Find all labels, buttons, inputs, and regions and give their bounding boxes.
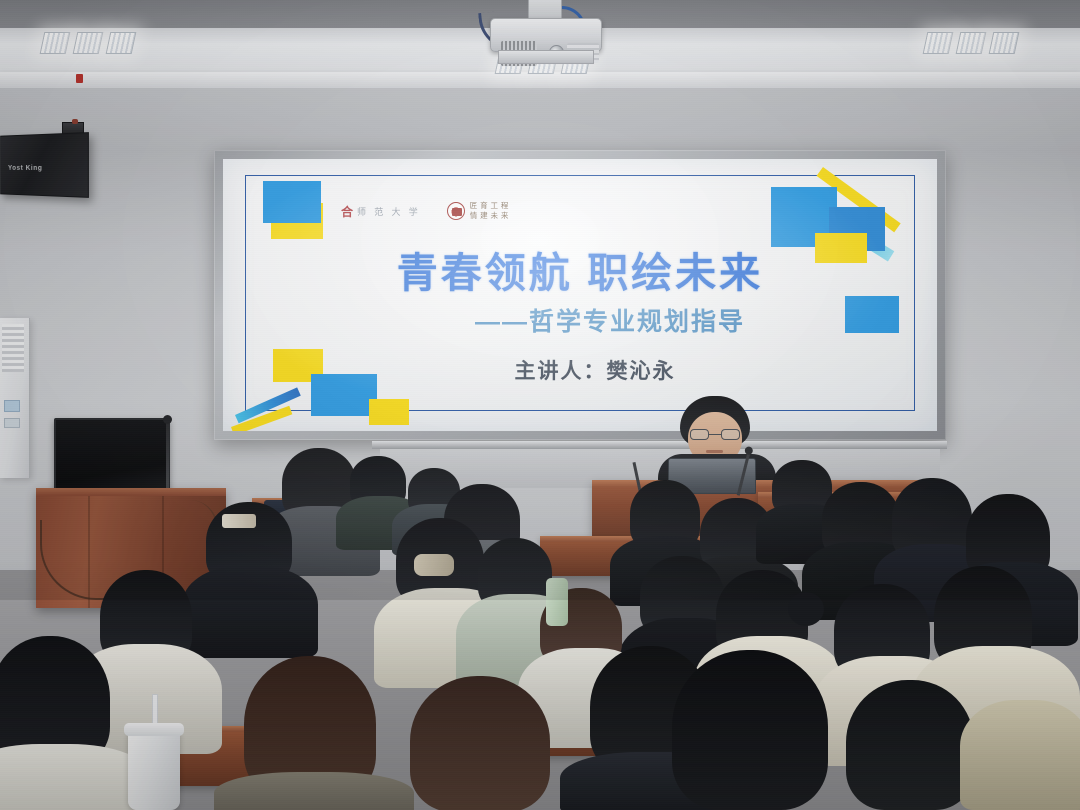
light-panel-icon [73, 32, 104, 54]
light-panel-icon [923, 32, 954, 54]
ceiling-projector [486, 0, 606, 60]
ceiling-light-group-right [925, 32, 1017, 58]
light-panel-icon [956, 32, 987, 54]
program-logo-line2: 情 建 未 来 [470, 211, 509, 220]
slide-subtitle: ——哲学专业规划指导 [223, 302, 937, 338]
slide-speaker: 主讲人：樊沁永 [223, 355, 937, 385]
speaker-brand-label: Yost King [8, 165, 43, 172]
university-logo-text: 师 范 大 学 [357, 205, 421, 218]
projection-screen-bezel: 合 师 范 大 学 匠 育 工 程 情 建 未 来 青春领航 职绘未来 ——哲学… [214, 150, 946, 440]
deco-blue-square-topleft [263, 181, 321, 223]
slide-logos: 合 师 范 大 学 匠 育 工 程 情 建 未 来 [341, 201, 509, 221]
aircon-display [4, 400, 20, 412]
presenter-mouth [706, 450, 723, 453]
podium-microphone [166, 422, 169, 488]
bracket-screw [72, 119, 78, 124]
presenter-badge [76, 74, 83, 83]
projector-body [490, 18, 602, 52]
aircon-panel [4, 418, 20, 428]
seal-icon [447, 202, 465, 220]
lecture-hall-photo: Yost King [0, 0, 1080, 810]
aircon-grille [2, 324, 24, 372]
projection-screen: 合 师 范 大 学 匠 育 工 程 情 建 未 来 青春领航 职绘未来 ——哲学… [223, 159, 937, 431]
university-logo-mark: 合 [341, 203, 353, 220]
wall-upper [0, 88, 1080, 158]
podium-monitor [54, 418, 170, 492]
wall-speaker: Yost King [0, 132, 89, 198]
projector-base-plate [498, 50, 594, 64]
drink-cup [128, 730, 180, 810]
program-logo: 匠 育 工 程 情 建 未 来 [447, 201, 509, 221]
program-logo-line1: 匠 育 工 程 [470, 201, 509, 210]
cup-lid [124, 723, 184, 736]
program-logo-text: 匠 育 工 程 情 建 未 来 [470, 201, 509, 221]
slide-title: 青春领航 职绘未来 [223, 239, 937, 299]
deco-yellow-square-small [369, 399, 409, 425]
light-panel-icon [40, 32, 71, 54]
water-bottle [546, 578, 568, 626]
glasses-icon [690, 429, 740, 440]
light-panel-icon [106, 32, 137, 54]
air-conditioner [0, 318, 30, 478]
university-logo: 合 师 范 大 学 [341, 203, 421, 220]
ceiling-light-group-left [42, 32, 134, 58]
light-panel-icon [989, 32, 1020, 54]
